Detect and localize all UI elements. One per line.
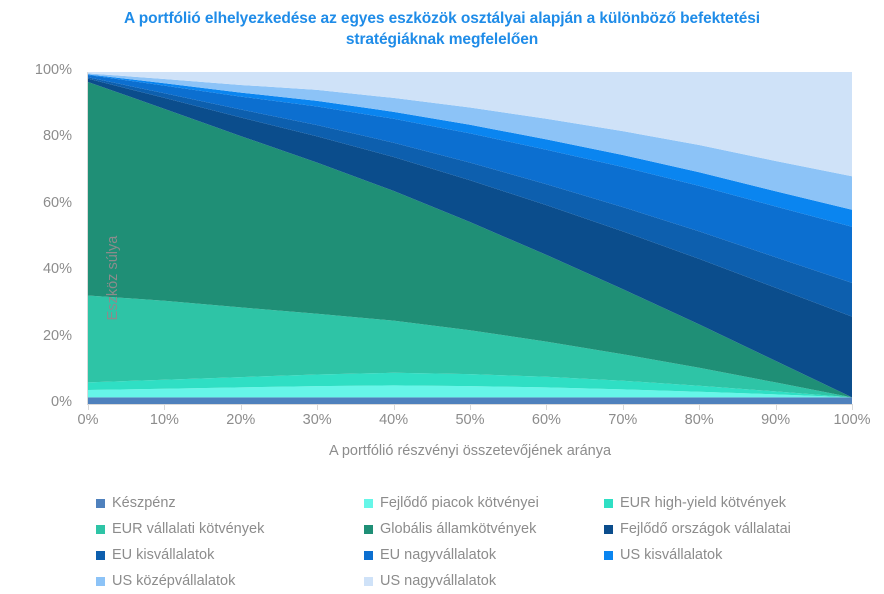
x-tick-mark xyxy=(546,405,547,410)
x-tick-label: 60% xyxy=(532,412,561,428)
legend-item[interactable]: EU kisvállalatok xyxy=(96,542,364,568)
x-tick-label: 90% xyxy=(761,412,790,428)
legend-item[interactable]: US nagyvállalatok xyxy=(364,568,604,594)
area-series xyxy=(88,397,852,404)
legend-swatch-icon xyxy=(604,551,613,560)
legend-swatch-icon xyxy=(364,499,373,508)
chart-title: A portfólió elhelyezkedése az egyes eszk… xyxy=(100,8,784,50)
legend-item-label: EU nagyvállalatok xyxy=(380,547,496,563)
x-tick-label: 0% xyxy=(78,412,99,428)
x-tick-mark xyxy=(164,405,165,410)
legend-item-label: US nagyvállalatok xyxy=(380,573,496,589)
legend-item[interactable]: EU nagyvállalatok xyxy=(364,542,604,568)
legend-swatch-icon xyxy=(364,525,373,534)
legend-item-label: EUR high-yield kötvények xyxy=(620,495,786,511)
legend-item-label: Fejlődő piacok kötvényei xyxy=(380,495,539,511)
x-tick-mark xyxy=(317,405,318,410)
legend-item-label: Készpénz xyxy=(112,495,176,511)
legend-item[interactable]: EUR vállalati kötvények xyxy=(96,516,364,542)
plot-area: Eszköz súlya xyxy=(88,72,852,404)
legend-swatch-icon xyxy=(96,551,105,560)
legend-swatch-icon xyxy=(96,499,105,508)
stacked-area-svg xyxy=(88,72,852,404)
legend-swatch-icon xyxy=(604,525,613,534)
legend-item-label: Fejlődő országok vállalatai xyxy=(620,521,791,537)
legend-swatch-icon xyxy=(96,577,105,586)
x-tick-label: 30% xyxy=(303,412,332,428)
y-tick-label: 40% xyxy=(43,261,72,277)
x-tick-mark xyxy=(852,405,853,410)
legend-item-label: EU kisvállalatok xyxy=(112,547,214,563)
area-series-group xyxy=(88,72,852,404)
x-tick-mark xyxy=(394,405,395,410)
legend-item[interactable]: EUR high-yield kötvények xyxy=(604,490,866,516)
x-tick-mark xyxy=(699,405,700,410)
x-tick-mark xyxy=(88,405,89,410)
y-tick-label: 0% xyxy=(51,394,72,410)
legend-item-label: US középvállalatok xyxy=(112,573,235,589)
y-axis-line xyxy=(87,72,88,405)
x-tick-label: 20% xyxy=(226,412,255,428)
legend-item[interactable]: US kisvállalatok xyxy=(604,542,866,568)
x-tick-label: 100% xyxy=(833,412,870,428)
x-tick-mark xyxy=(776,405,777,410)
x-tick-label: 50% xyxy=(455,412,484,428)
y-tick-label: 60% xyxy=(43,195,72,211)
legend-swatch-icon xyxy=(604,499,613,508)
x-tick-label: 70% xyxy=(608,412,637,428)
legend-item[interactable]: Fejlődő piacok kötvényei xyxy=(364,490,604,516)
x-tick-label: 10% xyxy=(150,412,179,428)
y-tick-label: 100% xyxy=(35,62,72,78)
legend-item[interactable]: Készpénz xyxy=(96,490,364,516)
chart-legend: KészpénzFejlődő piacok kötvényeiEUR high… xyxy=(96,490,876,594)
legend-item-label: EUR vállalati kötvények xyxy=(112,521,264,537)
x-axis-title: A portfólió részvényi összetevőjének ará… xyxy=(88,443,852,459)
y-tick-label: 80% xyxy=(43,128,72,144)
legend-item[interactable]: Fejlődő országok vállalatai xyxy=(604,516,866,542)
legend-swatch-icon xyxy=(96,525,105,534)
legend-item[interactable]: US középvállalatok xyxy=(96,568,364,594)
chart-root: A portfólió elhelyezkedése az egyes eszk… xyxy=(0,0,884,589)
x-tick-mark xyxy=(470,405,471,410)
legend-swatch-icon xyxy=(364,577,373,586)
legend-item-label: Globális államkötvények xyxy=(380,521,536,537)
legend-item[interactable]: Globális államkötvények xyxy=(364,516,604,542)
x-tick-label: 40% xyxy=(379,412,408,428)
legend-item-label: US kisvállalatok xyxy=(620,547,722,563)
y-axis-title: Eszköz súlya xyxy=(105,178,121,378)
x-tick-label: 80% xyxy=(685,412,714,428)
x-tick-mark xyxy=(623,405,624,410)
legend-swatch-icon xyxy=(364,551,373,560)
x-tick-mark xyxy=(241,405,242,410)
y-tick-label: 20% xyxy=(43,328,72,344)
